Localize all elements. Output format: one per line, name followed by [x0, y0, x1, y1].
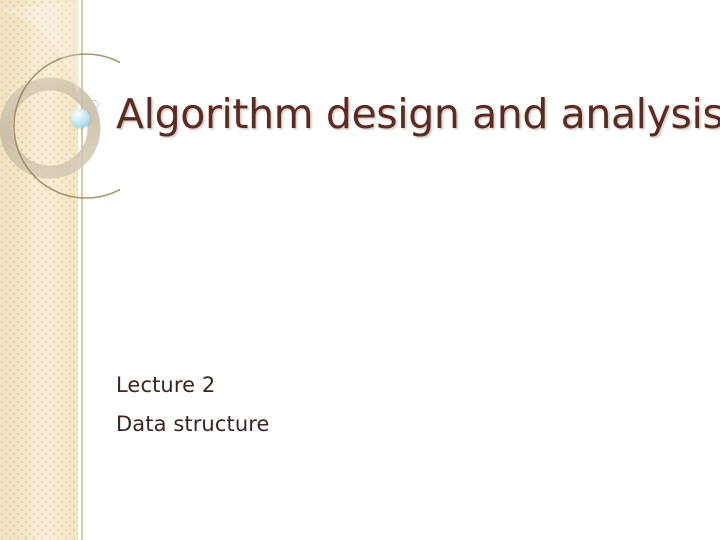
slide-body: Lecture 2 Data structure	[116, 366, 676, 444]
small-circle-outline-icon	[90, 100, 99, 109]
blue-bubble-icon	[71, 109, 90, 128]
body-line-topic: Data structure	[116, 405, 676, 444]
slide-canvas: Algorithm design and analysis Lecture 2 …	[0, 0, 720, 540]
band-edge-divider	[81, 0, 83, 540]
left-decorative-band	[0, 0, 78, 540]
body-line-lecture: Lecture 2	[116, 366, 676, 405]
slide-title: Algorithm design and analysis	[116, 92, 686, 138]
